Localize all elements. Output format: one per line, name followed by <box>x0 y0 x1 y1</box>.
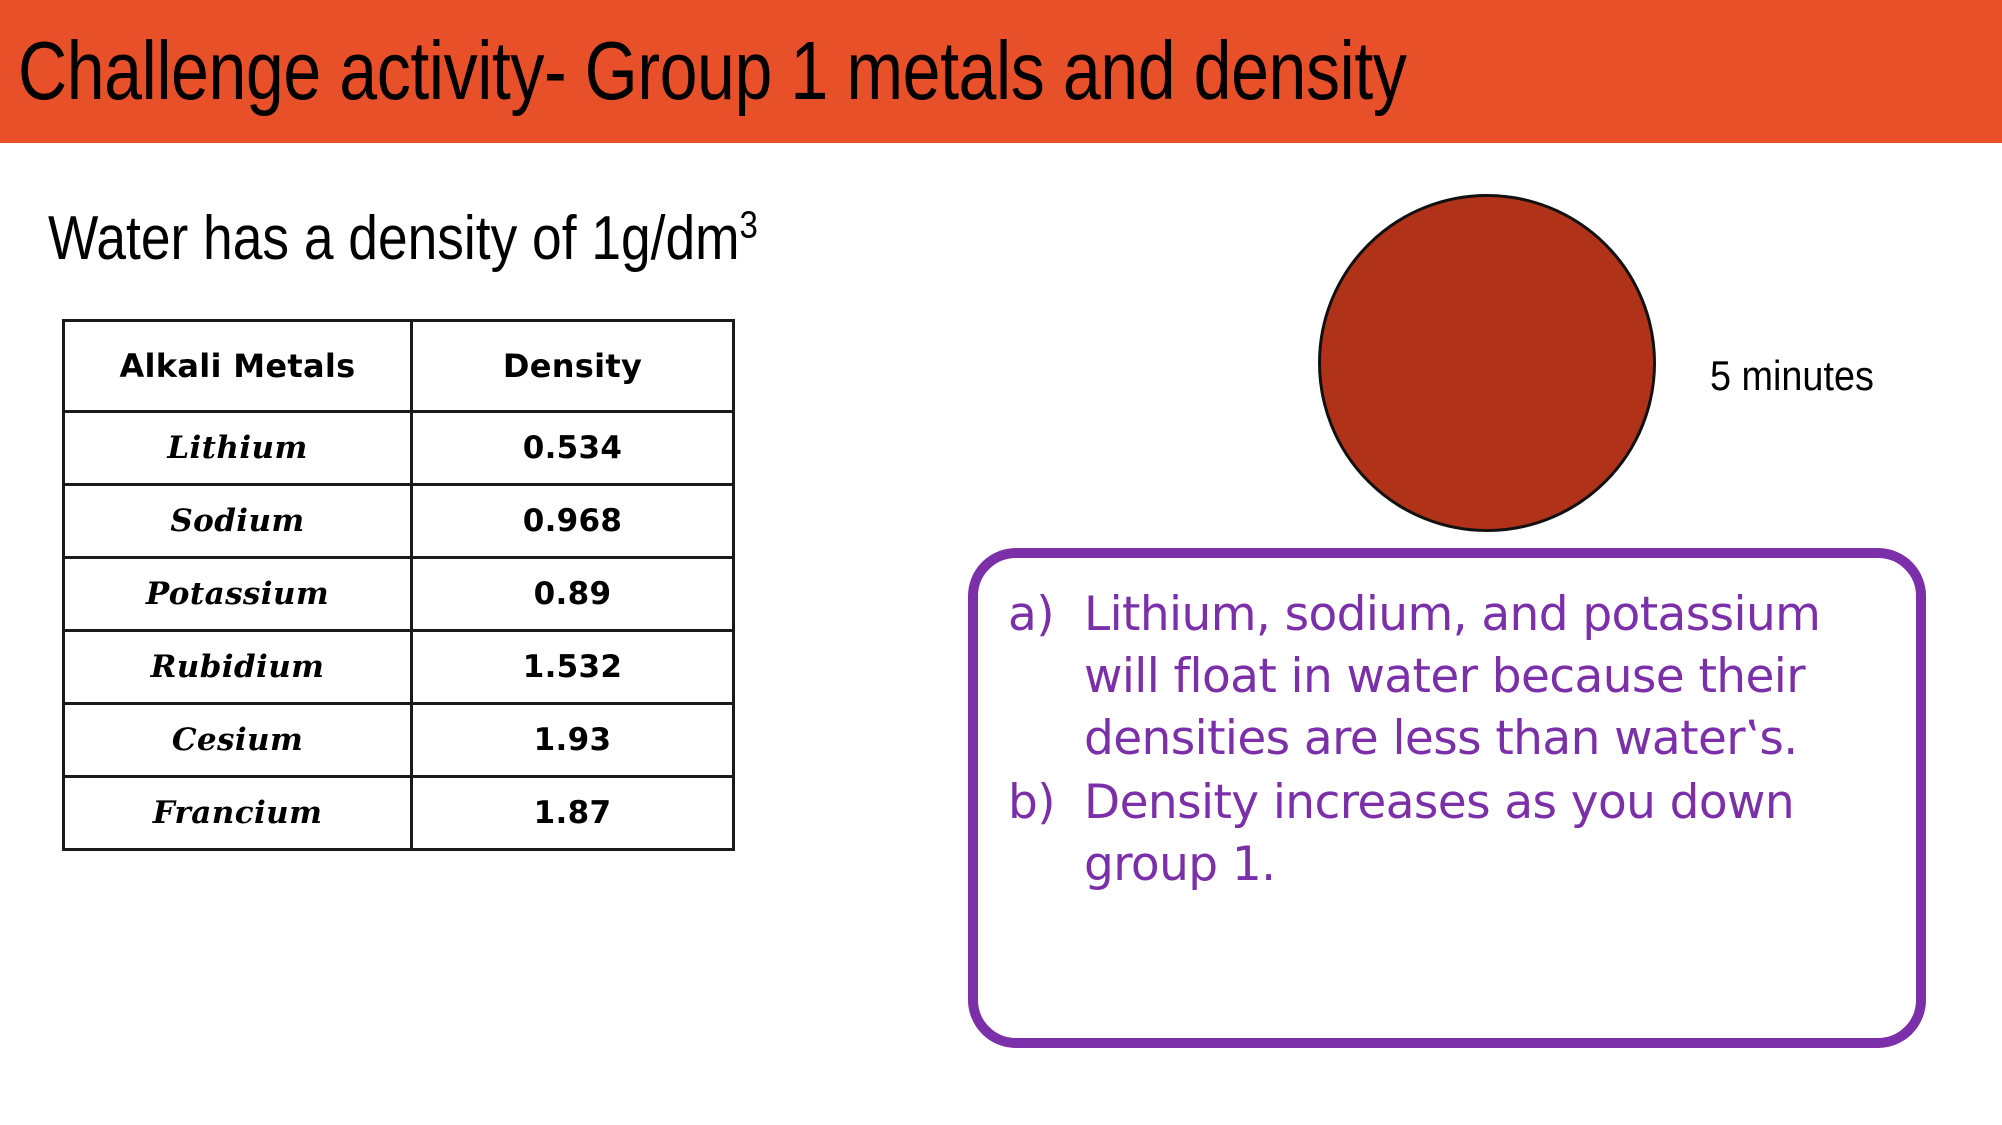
timer-circle-icon <box>1318 194 1656 532</box>
table-row: Rubidium 1.532 <box>64 631 734 704</box>
list-item: a) Lithium, sodium, and potassium will f… <box>1008 584 1886 770</box>
metal-name-cell: Cesium <box>64 704 412 777</box>
density-value-cell: 1.87 <box>412 777 734 850</box>
table-row: Francium 1.87 <box>64 777 734 850</box>
table-row: Potassium 0.89 <box>64 558 734 631</box>
metal-name-cell: Potassium <box>64 558 412 631</box>
table-header-row: Alkali Metals Density <box>64 321 734 412</box>
water-density-statement: Water has a density of 1g/dm3 <box>48 203 758 275</box>
list-item-text: Density increases as you down group 1. <box>1084 775 1794 892</box>
answer-list: a) Lithium, sodium, and potassium will f… <box>978 558 1916 896</box>
list-item-text: Lithium, sodium, and potassium will floa… <box>1084 587 1820 766</box>
density-value-cell: 0.89 <box>412 558 734 631</box>
table-row: Cesium 1.93 <box>64 704 734 777</box>
density-value-cell: 1.93 <box>412 704 734 777</box>
column-header-alkali-metals: Alkali Metals <box>64 321 412 412</box>
density-value-cell: 1.532 <box>412 631 734 704</box>
answer-callout-box: a) Lithium, sodium, and potassium will f… <box>968 548 1926 1048</box>
density-table-container: Alkali Metals Density Lithium 0.534 Sodi… <box>62 319 732 851</box>
metal-name-cell: Rubidium <box>64 631 412 704</box>
page-title: Challenge activity- Group 1 metals and d… <box>18 22 1625 120</box>
table-row: Lithium 0.534 <box>64 412 734 485</box>
water-statement-superscript: 3 <box>740 203 758 246</box>
title-banner: Challenge activity- Group 1 metals and d… <box>0 0 2002 143</box>
metal-name-cell: Lithium <box>64 412 412 485</box>
slide-canvas: Challenge activity- Group 1 metals and d… <box>0 0 2002 1125</box>
water-statement-text: Water has a density of 1g/dm <box>48 204 740 273</box>
density-table: Alkali Metals Density Lithium 0.534 Sodi… <box>62 319 735 851</box>
list-item-marker: b) <box>1008 772 1074 834</box>
density-value-cell: 0.534 <box>412 412 734 485</box>
list-item-marker: a) <box>1008 584 1074 646</box>
table-row: Sodium 0.968 <box>64 485 734 558</box>
timer-label: 5 minutes <box>1710 352 1874 400</box>
density-value-cell: 0.968 <box>412 485 734 558</box>
metal-name-cell: Francium <box>64 777 412 850</box>
list-item: b) Density increases as you down group 1… <box>1008 772 1886 896</box>
column-header-density: Density <box>412 321 734 412</box>
metal-name-cell: Sodium <box>64 485 412 558</box>
